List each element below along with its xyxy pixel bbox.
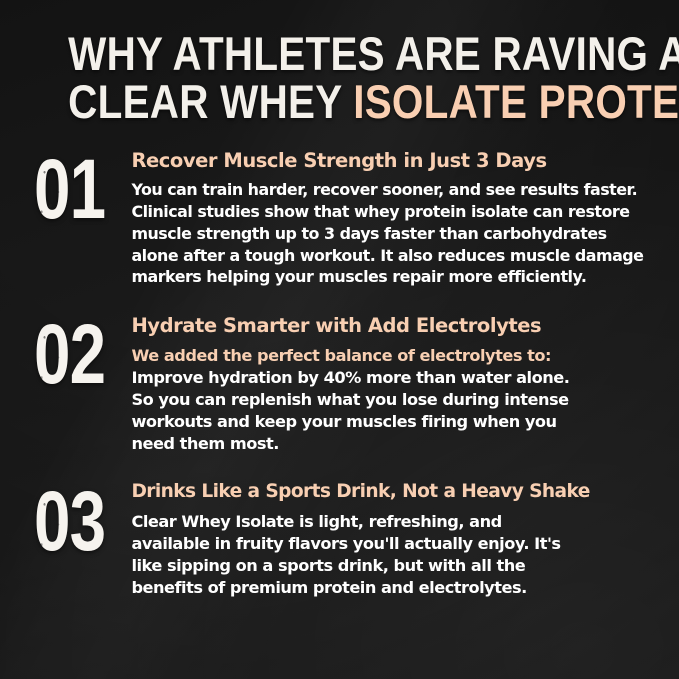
body-line: muscle strength up to 3 days faster than… <box>131 223 649 245</box>
benefit-number-01: 01 <box>34 153 105 225</box>
body-line: We added the perfect balance of electrol… <box>131 345 649 367</box>
benefit-item-02: 02 Hydrate Smarter with Add Electrolytes… <box>34 314 649 455</box>
benefit-list: 01 Recover Muscle Strength in Just 3 Day… <box>0 149 679 600</box>
headline-line-2: CLEAR WHEY ISOLATE PROTEIN <box>68 78 611 126</box>
body-line: benefits of premium protein and electrol… <box>131 577 649 599</box>
benefit-paragraph-03: Clear Whey Isolate is light, refreshing,… <box>131 511 649 600</box>
benefit-number-02: 02 <box>34 318 105 390</box>
benefit-body-01: Recover Muscle Strength in Just 3 Days Y… <box>125 149 649 288</box>
benefit-body-02: Hydrate Smarter with Add Electrolytes We… <box>125 314 649 455</box>
benefit-item-03: 03 Drinks Like a Sports Drink, Not a Hea… <box>34 481 649 599</box>
benefit-subheading-02: Hydrate Smarter with Add Electrolytes <box>131 314 649 337</box>
body-line: like sipping on a sports drink, but with… <box>131 555 649 577</box>
body-line: Clear Whey Isolate is light, refreshing,… <box>131 511 649 533</box>
body-line: Improve hydration by 40% more than water… <box>131 367 649 389</box>
promo-graphic: WHY ATHLETES ARE RAVING ABOUT CLEAR WHEY… <box>0 0 679 679</box>
body-line: workouts and keep your muscles firing wh… <box>131 411 649 433</box>
body-line: alone after a tough workout. It also red… <box>131 245 649 267</box>
benefit-subheading-03: Drinks Like a Sports Drink, Not a Heavy … <box>131 481 649 503</box>
body-line: need them most. <box>131 433 649 455</box>
benefit-number-03: 03 <box>34 485 105 557</box>
body-line: markers helping your muscles repair more… <box>131 266 649 288</box>
headline-line-2-accent: ISOLATE PROTEIN <box>353 75 679 128</box>
benefit-paragraph-01: You can train harder, recover sooner, an… <box>131 179 649 288</box>
body-line: You can train harder, recover sooner, an… <box>131 179 649 201</box>
body-line: available in fruity flavors you'll actua… <box>131 533 649 555</box>
body-line: So you can replenish what you lose durin… <box>131 389 649 411</box>
headline-line-1: WHY ATHLETES ARE RAVING ABOUT <box>68 30 611 78</box>
benefit-subheading-01: Recover Muscle Strength in Just 3 Days <box>131 149 649 172</box>
page-title: WHY ATHLETES ARE RAVING ABOUT CLEAR WHEY… <box>0 0 679 127</box>
benefit-item-01: 01 Recover Muscle Strength in Just 3 Day… <box>34 149 649 288</box>
benefit-body-03: Drinks Like a Sports Drink, Not a Heavy … <box>125 481 649 599</box>
headline-line-2-plain: CLEAR WHEY <box>68 75 353 128</box>
benefit-paragraph-02: We added the perfect balance of electrol… <box>131 345 649 456</box>
body-line: Clinical studies show that whey protein … <box>131 201 649 223</box>
